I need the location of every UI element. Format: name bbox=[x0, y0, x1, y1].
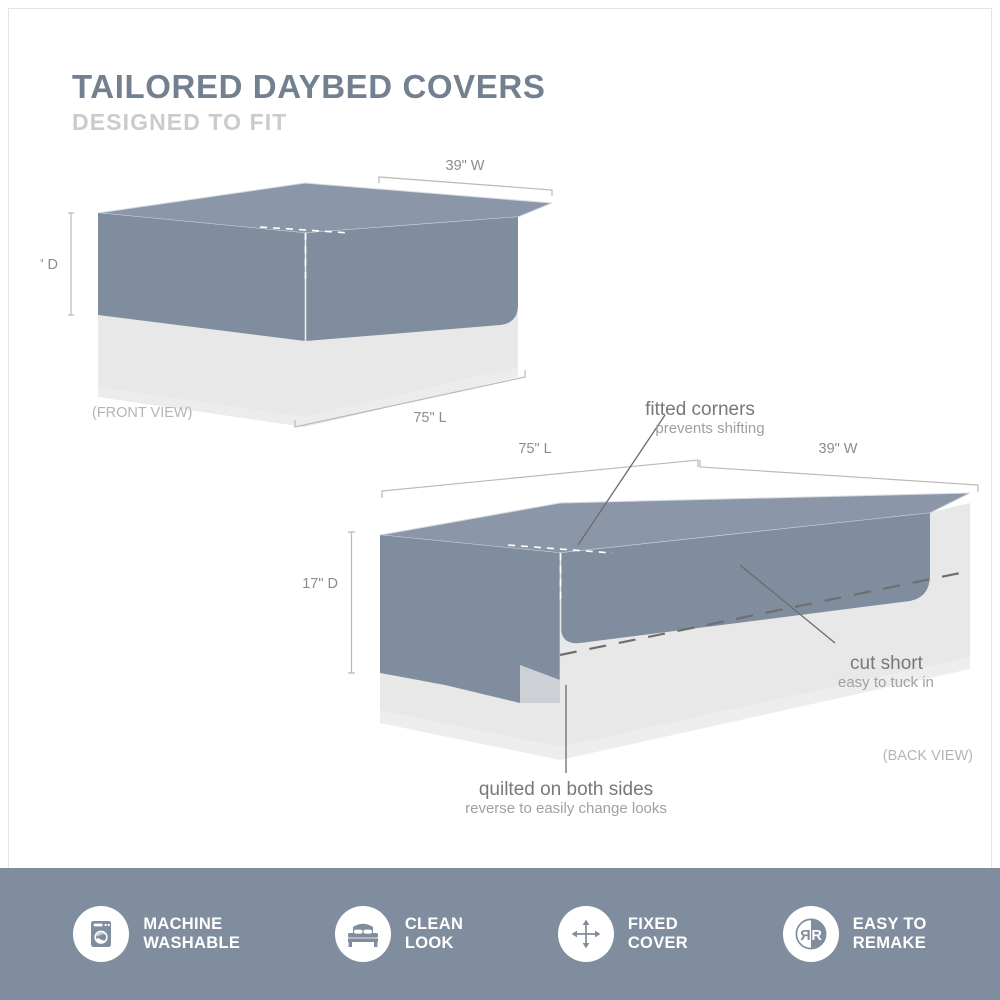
feature-fixed-cover: FIXED COVER bbox=[558, 906, 688, 962]
callout-fitted-corners-subtitle: prevents shifting bbox=[655, 420, 764, 437]
feature-label-line2: COVER bbox=[628, 934, 688, 953]
feature-label-line2: LOOK bbox=[405, 934, 463, 953]
feature-label-line2: REMAKE bbox=[853, 934, 927, 953]
front-dim-depth-label: 17" D bbox=[40, 257, 58, 273]
svg-text:R: R bbox=[811, 928, 822, 944]
callout-cut-short-title: cut short bbox=[850, 653, 924, 674]
feature-easy-to-remake: R R EASY TO REMAKE bbox=[783, 906, 927, 962]
feature-label: MACHINE WASHABLE bbox=[143, 915, 240, 954]
feature-label-line2: WASHABLE bbox=[143, 934, 240, 953]
callout-quilted-subtitle: reverse to easily change looks bbox=[465, 800, 667, 817]
svg-text:R: R bbox=[799, 928, 810, 944]
feature-label: CLEAN LOOK bbox=[405, 915, 463, 954]
feature-icon-wrapper bbox=[335, 906, 391, 962]
feature-label: FIXED COVER bbox=[628, 915, 688, 954]
front-view-label: (FRONT VIEW) bbox=[92, 405, 192, 421]
washing-machine-icon bbox=[84, 917, 118, 951]
header: TAILORED DAYBED COVERS DESIGNED TO FIT bbox=[72, 70, 545, 136]
feature-label-line1: EASY TO bbox=[853, 915, 927, 934]
four-way-arrows-icon bbox=[569, 917, 603, 951]
callout-cut-short-subtitle: easy to tuck in bbox=[838, 674, 934, 691]
feature-icon-wrapper bbox=[558, 906, 614, 962]
page-subtitle: DESIGNED TO FIT bbox=[72, 109, 545, 136]
feature-clean-look: CLEAN LOOK bbox=[335, 906, 463, 962]
front-cover-right-face bbox=[306, 217, 518, 341]
feature-label-line1: CLEAN bbox=[405, 915, 463, 934]
front-dim-width: 39" W bbox=[379, 158, 552, 196]
feature-machine-washable: MACHINE WASHABLE bbox=[73, 906, 240, 962]
back-dim-length: 75" L bbox=[382, 441, 698, 498]
back-dim-depth: 17" D bbox=[302, 532, 355, 673]
feature-label-line1: FIXED bbox=[628, 915, 688, 934]
reversible-r-icon: R R bbox=[792, 915, 830, 953]
callout-fitted-corners-title: fitted corners bbox=[645, 399, 755, 420]
back-dim-width: 39" W bbox=[700, 441, 978, 492]
back-view-diagram: 75" L 39" W 17" D fitted corners prevent… bbox=[270, 385, 1000, 825]
front-dim-depth: 17" D bbox=[40, 213, 74, 315]
feature-label: EASY TO REMAKE bbox=[853, 915, 927, 954]
feature-bar: MACHINE WASHABLE CLEAN LOOK bbox=[0, 868, 1000, 1000]
back-view-label: (BACK VIEW) bbox=[883, 748, 973, 764]
feature-label-line1: MACHINE bbox=[143, 915, 240, 934]
back-dim-length-label: 75" L bbox=[518, 441, 551, 457]
feature-icon-wrapper bbox=[73, 906, 129, 962]
front-dim-width-label: 39" W bbox=[446, 158, 485, 174]
feature-icon-wrapper: R R bbox=[783, 906, 839, 962]
page-title: TAILORED DAYBED COVERS bbox=[72, 70, 545, 105]
callout-quilted-title: quilted on both sides bbox=[479, 779, 653, 800]
back-dim-width-label: 39" W bbox=[819, 441, 858, 457]
back-dim-depth-label: 17" D bbox=[302, 576, 338, 592]
bed-icon bbox=[345, 919, 381, 949]
